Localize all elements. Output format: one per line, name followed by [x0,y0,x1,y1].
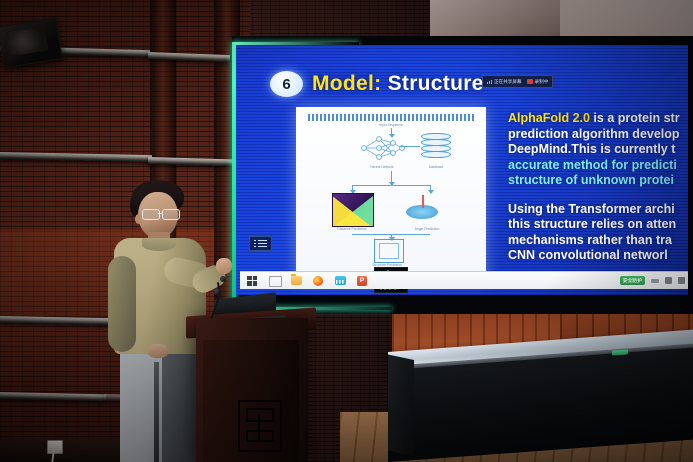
task-view-button[interactable] [269,276,280,286]
screen-share-overlay-toolbar[interactable]: 正在共享屏幕 录制中 [482,75,553,88]
file-explorer-button[interactable] [291,276,302,286]
presenter-right-hand [216,258,232,274]
figure-caption-angles: Angle Prediction [396,227,458,231]
lecture-hall-scene: 6 Model: Structure Input Sequence [0,0,693,462]
figure-branch-line [352,185,430,186]
tray-icon-a[interactable] [651,279,659,283]
firefox-icon [313,276,323,286]
slide-figure-panel: Input Sequence Neural Network [296,107,486,282]
figure-distance-matrix [332,193,374,227]
powerpoint-icon: P [357,276,367,286]
microphone-head [213,288,220,295]
slide-body-text: AlphaFold 2.0 is a protein str predictio… [508,111,688,264]
figure-arrow-2 [400,146,420,147]
wall-outlet [47,440,63,454]
figure-arrow-5 [430,185,431,193]
conference-table-side [388,354,414,456]
figure-caption-distance: Distance Prediction [316,227,388,231]
task-view-icon [269,276,282,287]
record-icon [527,79,533,84]
slide-title-text: Model: Structure [312,72,484,96]
figure-angle-prediction [404,195,440,223]
tray-icon-b[interactable] [665,277,672,284]
microphone-secondary-head [220,276,226,282]
presenter-left-arm [108,256,136,352]
glasses-icon [142,209,180,218]
slide-title: 6 Model: Structure [270,71,484,97]
figure-input-sequence [308,114,474,121]
slide-paragraph-2: Using the Transformer archi this structu… [508,202,688,264]
presenter-menu-dots [254,240,256,248]
slide-number-badge: 6 [270,71,303,97]
media-app-icon [335,276,346,285]
screen-share-status[interactable]: 正在共享屏幕 [487,79,522,85]
presenter-left-hand [148,344,168,358]
taskbar-system-tray: 安全防护 [620,276,688,285]
presenter-ear [135,214,142,224]
body-line-1b: is a protein str [590,111,680,125]
body-line-3: DeepMind.This is currently t [508,142,675,156]
slide-paragraph-1: AlphaFold 2.0 is a protein str predictio… [508,111,688,189]
projection-screen[interactable]: 6 Model: Structure Input Sequence [232,36,693,314]
presenter-collar [142,238,176,251]
signal-bars-icon [487,79,492,84]
powerpoint-button[interactable]: P [357,276,368,286]
media-app-button[interactable] [335,276,346,286]
folder-icon [291,276,302,285]
presenter-leg-seam [154,362,159,462]
figure-structure-module [374,239,404,263]
figure-database-icon [421,133,449,159]
recording-status[interactable]: 录制中 [527,79,549,85]
body-line-4: accurate method for predicti [508,158,677,172]
figure-arrow-3 [391,171,392,185]
presenter-menu-icon[interactable] [249,236,272,251]
body-line-1a: AlphaFold 2.0 [508,111,590,125]
windows-icon [247,276,257,286]
body-line-7: this structure relies on atten [508,217,676,231]
start-button[interactable] [247,276,258,286]
presenter-pants-shadow [162,348,198,462]
body-line-9: CNN convolutional networl [508,248,668,262]
windows-taskbar[interactable]: P 安全防护 [240,271,688,289]
body-line-8: mechanisms rather than tra [508,233,672,247]
figure-caption-sequence: Input Sequence [296,123,486,127]
body-line-5: structure of unknown protei [508,173,674,187]
security-status-badge[interactable]: 安全防护 [620,276,645,285]
figure-caption-network: Neural Network [348,165,416,169]
screen-share-label: 正在共享屏幕 [494,79,522,85]
presentation-slide[interactable]: 6 Model: Structure Input Sequence [236,45,688,295]
firefox-button[interactable] [313,276,324,286]
body-line-6: Using the Transformer archi [508,202,675,216]
body-line-2: prediction algorithm develop [508,127,680,141]
recording-label: 录制中 [535,79,549,85]
chinese-fretwork-panel [236,398,284,454]
slide-title-prefix: Model: [312,72,381,95]
figure-neural-network-icon [359,133,405,163]
slide-title-main: Structure [388,72,484,95]
taskbar-pinned-items: P [240,276,368,286]
figure-arrow-4 [352,185,353,193]
tray-icon-c[interactable] [678,277,685,284]
presenter-menu-lines [258,240,267,248]
figure-caption-database: Database [408,165,464,169]
